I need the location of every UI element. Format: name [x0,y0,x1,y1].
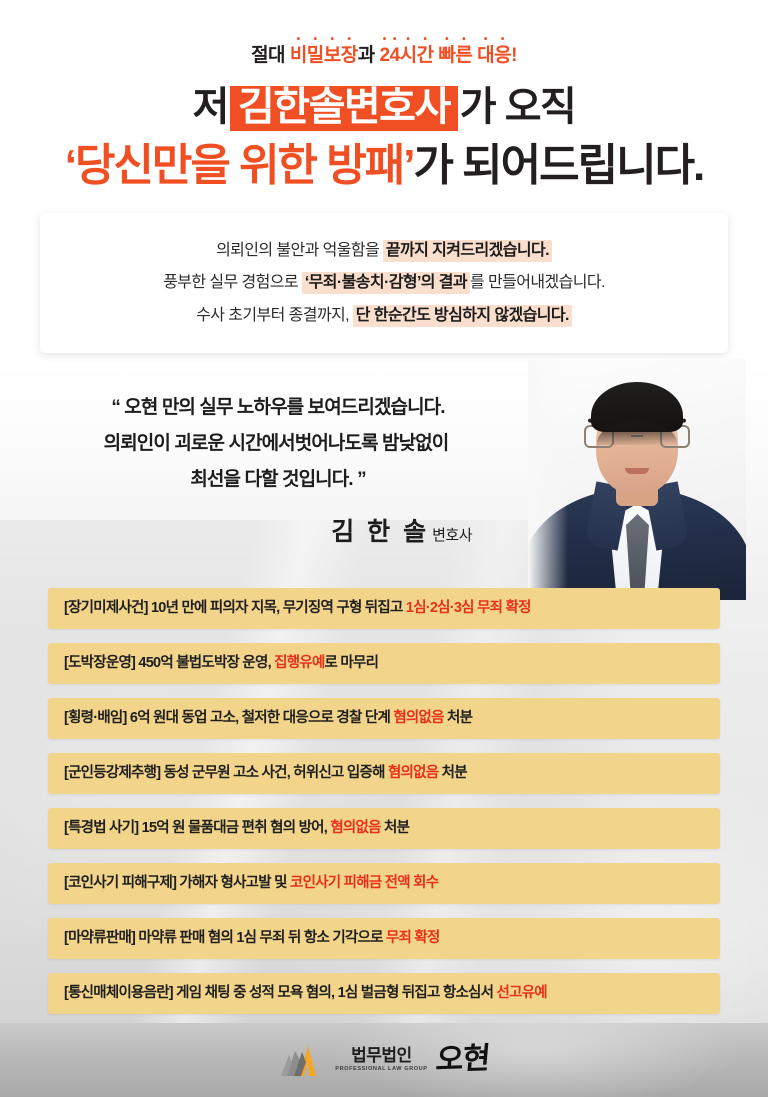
promise-line: 수사 초기부터 종결까지, 단 한순간도 방심하지 않겠습니다. [196,306,572,325]
case-post: 처분 [438,765,466,781]
law-firm-brand-calligraphy: 오현 [435,1044,491,1076]
headline2-post: 가 되어드립니다. [413,141,703,190]
case-result-row: [특경법 사기] 15억 원 물품대금 편취 혐의 방어, 혐의없음 처분 [48,808,720,849]
case-result-row: [군인등강제추행] 동성 군무원 고소 사건, 허위신고 입증해 혐의없음 처분 [48,753,720,794]
headline-post: 가 오직 [460,85,576,129]
law-firm-name-block: 법무법인 PROFESSIONAL LAW GROUP [335,1047,427,1073]
eyebrow-tagline: 절대 비밀보장과 24시간 빠른 대응! [0,34,768,66]
promise-plain-1: 의뢰인의 불안과 억울함을 [216,242,383,259]
promise-line: 의뢰인의 불안과 억울함을 끝까지 지켜드리겠습니다. [216,241,552,260]
case-pre: [횡령·배임] 6억 원대 동업 고소, 철저한 대응으로 경찰 단계 [64,710,393,726]
promise-line: 풍부한 실무 경험으로 ‘무죄·불송치·감형’의 결과를 만들어내겠습니다. [163,273,605,292]
case-result-row: [도박장운영] 450억 불법도박장 운영, 집행유예로 마무리 [48,643,720,684]
quote-line-1: “ 오현 만의 실무 노하우를 보여드리겠습니다. [48,390,508,426]
law-firm-name-korean: 법무법인 [351,1047,412,1064]
case-outcome: 혐의없음 [388,765,438,781]
headline-primary: 저김한솔변호사가 오직 [0,86,768,131]
headline-secondary: ‘당신만을 위한 방패’가 되어드립니다. [0,143,768,189]
case-result-text: [마약류판매] 마약류 판매 혐의 1심 무죄 뒤 항소 기각으로 무죄 확정 [64,931,440,946]
promise-card: 의뢰인의 불안과 억울함을 끝까지 지켜드리겠습니다. 풍부한 실무 경험으로 … [40,213,728,353]
case-result-text: [코인사기 피해구제] 가해자 형사고발 및 코인사기 피해금 전액 회수 [64,876,438,891]
law-firm-mark-icon [278,1043,324,1077]
case-outcome: 혐의없음 [393,710,443,726]
headline2-quote-close: ’ [403,141,413,190]
promise-highlight: ‘무죄·불송치·감형’의 결과 [302,272,470,294]
lawyer-portrait-photo [528,358,746,600]
promise-plain-1: 수사 초기부터 종결까지, [196,307,353,324]
case-pre: [군인등강제추행] 동성 군무원 고소 사건, 허위신고 입증해 [64,765,388,781]
case-outcome: 혐의없음 [330,820,380,836]
headline-name-badge: 김한솔변호사 [230,86,458,131]
footer: 법무법인 PROFESSIONAL LAW GROUP 오현 [0,1023,768,1097]
headline2-orange-phrase: 당신만을 위한 방패 [75,141,403,190]
case-pre: [장기미제사건] 10년 만에 피의자 지목, 무기징역 구형 뒤집고 [64,600,406,616]
headline2-quote-open: ‘ [65,141,75,190]
case-pre: [특경법 사기] 15억 원 물품대금 편취 혐의 방어, [64,820,330,836]
signature-title: 변호사 [432,527,472,544]
case-result-text: [군인등강제추행] 동성 군무원 고소 사건, 허위신고 입증해 혐의없음 처분 [64,766,467,781]
case-result-text: [특경법 사기] 15억 원 물품대금 편취 혐의 방어, 혐의없음 처분 [64,821,409,836]
case-pre: [코인사기 피해구제] 가해자 형사고발 및 [64,875,290,891]
promise-plain-2: 를 만들어내겠습니다. [470,274,605,291]
case-outcome: 무죄 확정 [386,930,440,946]
case-result-row: [장기미제사건] 10년 만에 피의자 지목, 무기징역 구형 뒤집고 1심·2… [48,588,720,629]
case-result-row: [코인사기 피해구제] 가해자 형사고발 및 코인사기 피해금 전액 회수 [48,863,720,904]
eyebrow-dotted-1: 비밀보장 [290,45,358,66]
case-result-row: [통신매체이용음란] 게임 채팅 중 성적 모욕 혐의, 1심 벌금형 뒤집고 … [48,973,720,1014]
case-result-text: [통신매체이용음란] 게임 채팅 중 성적 모욕 혐의, 1심 벌금형 뒤집고 … [64,986,547,1001]
signature-name: 김 한 솔 [331,518,429,546]
case-result-text: [장기미제사건] 10년 만에 피의자 지목, 무기징역 구형 뒤집고 1심·2… [64,601,531,616]
case-pre: [마약류판매] 마약류 판매 혐의 1심 무죄 뒤 항소 기각으로 [64,930,386,946]
poster-root: 절대 비밀보장과 24시간 빠른 대응! 저김한솔변호사가 오직 ‘당신만을 위… [0,0,768,1097]
headline-pre: 저 [193,85,228,129]
portrait-left-fade [528,358,568,600]
case-result-text: [횡령·배임] 6억 원대 동업 고소, 철저한 대응으로 경찰 단계 혐의없음… [64,711,472,726]
signature: 김 한 솔변호사 [48,512,508,548]
eyebrow-plain-2: 과 [358,45,380,66]
case-results-list: [장기미제사건] 10년 만에 피의자 지목, 무기징역 구형 뒤집고 1심·2… [48,588,720,1028]
promise-plain-1: 풍부한 실무 경험으로 [163,274,302,291]
lawyer-quote: “ 오현 만의 실무 노하우를 보여드리겠습니다. 의뢰인이 괴로운 시간에서벗… [48,390,508,548]
portrait-mouth [625,468,649,474]
promise-highlight: 끝까지 지켜드리겠습니다. [383,240,552,262]
eyebrow-plain-1: 절대 [251,45,290,66]
case-pre: [도박장운영] 450억 불법도박장 운영, [64,655,274,671]
case-result-text: [도박장운영] 450억 불법도박장 운영, 집행유예로 마무리 [64,656,378,671]
quote-line-2: 의뢰인이 괴로운 시간에서벗어나도록 밤낮없이 [48,426,508,462]
case-result-row: [횡령·배임] 6억 원대 동업 고소, 철저한 대응으로 경찰 단계 혐의없음… [48,698,720,739]
promise-highlight: 단 한순간도 방심하지 않겠습니다. [353,305,572,327]
case-outcome: 선고유예 [497,985,547,1001]
case-result-row: [마약류판매] 마약류 판매 혐의 1심 무죄 뒤 항소 기각으로 무죄 확정 [48,918,720,959]
law-firm-wordmark: 법무법인 PROFESSIONAL LAW GROUP 오현 [335,1045,489,1075]
case-post: 처분 [444,710,472,726]
law-firm-name-english: PROFESSIONAL LAW GROUP [335,1067,427,1073]
case-post: 처분 [381,820,409,836]
case-outcome: 1심·2심·3심 무죄 확정 [406,600,531,616]
eyebrow-dotted-2: 24시간 빠른 대응! [380,45,517,66]
case-outcome: 집행유예 [274,655,324,671]
quote-line-3: 최선을 다할 것입니다. ” [48,462,508,498]
header: 절대 비밀보장과 24시간 빠른 대응! 저김한솔변호사가 오직 ‘당신만을 위… [0,0,768,189]
case-outcome: 코인사기 피해금 전액 회수 [290,875,438,891]
case-pre: [통신매체이용음란] 게임 채팅 중 성적 모욕 혐의, 1심 벌금형 뒤집고 … [64,985,497,1001]
case-post: 로 마무리 [325,655,379,671]
